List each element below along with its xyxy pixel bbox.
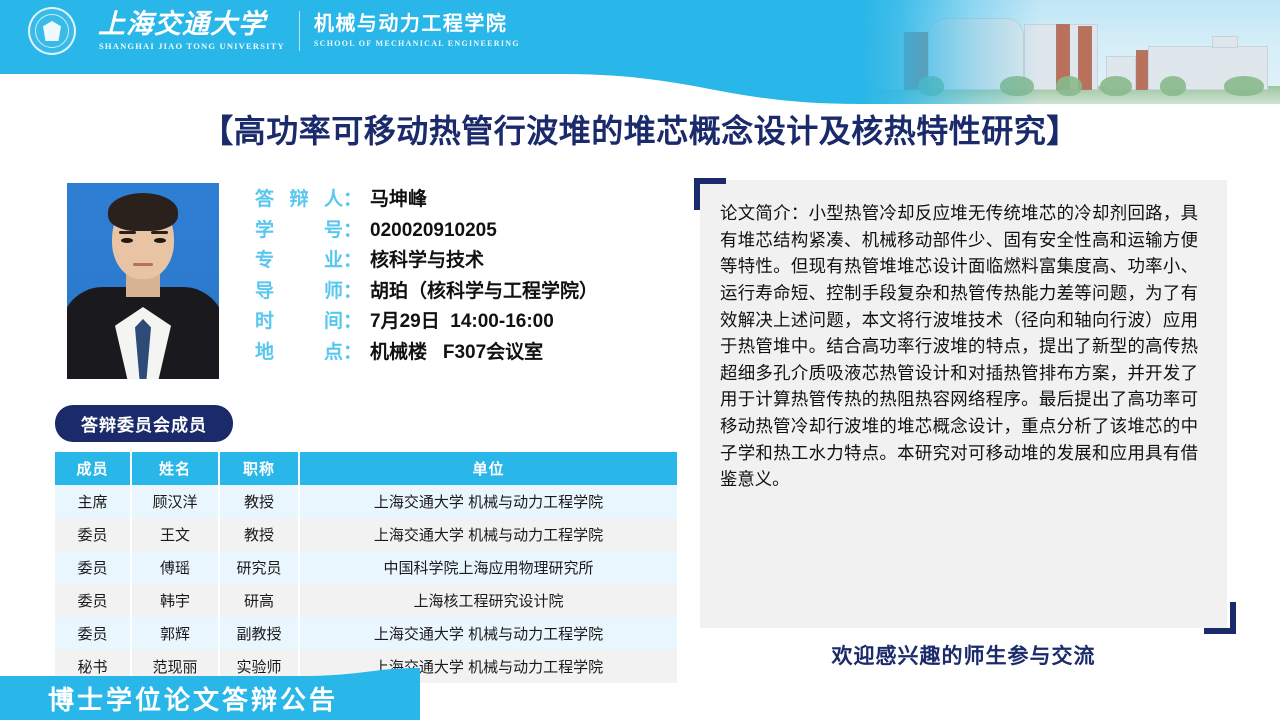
cell-title: 研高 (219, 584, 299, 617)
column-header-name: 姓名 (131, 452, 219, 485)
portrait-eyebrow (119, 231, 136, 234)
cell-title: 副教授 (219, 617, 299, 650)
thesis-title: 【高功率可移动热管行波堆的堆芯概念设计及核热特性研究】 (0, 112, 1280, 150)
table-row: 委员 傅瑶 研究员 中国科学院上海应用物理研究所 (55, 551, 677, 584)
cell-name: 郭辉 (131, 617, 219, 650)
info-row-presenter: 答 辩 人 ： 马坤峰 (255, 184, 675, 215)
info-value-presenter: 马坤峰 (370, 184, 427, 211)
cell-affiliation: 中国科学院上海应用物理研究所 (299, 551, 677, 584)
info-row-time: 时 间 ： 7月29日 14:00-16:00 (255, 306, 675, 337)
portrait-mouth (133, 263, 153, 266)
info-value-advisor: 胡珀（核科学与工程学院） (370, 276, 598, 303)
portrait-eye (154, 238, 166, 243)
brand-divider (299, 11, 300, 51)
cell-title: 教授 (219, 485, 299, 518)
info-value-time: 7月29日 14:00-16:00 (370, 306, 554, 333)
cell-title: 研究员 (219, 551, 299, 584)
info-colon: ： (343, 184, 362, 211)
info-row-advisor: 导 师 ： 胡珀（核科学与工程学院） (255, 276, 675, 307)
cell-role: 委员 (55, 551, 131, 584)
info-label-presenter: 答 辩 人 (255, 184, 343, 211)
info-row-major: 专 业 ： 核科学与技术 (255, 245, 675, 276)
welcome-note: 欢迎感兴趣的师生参与交流 (700, 640, 1227, 670)
info-colon: ： (343, 215, 362, 242)
portrait-hair (108, 193, 178, 231)
cell-name: 韩宇 (131, 584, 219, 617)
school-name-en: SCHOOL OF MECHANICAL ENGINEERING (314, 39, 520, 48)
header-curve-divider (0, 54, 1280, 104)
cell-name: 王文 (131, 518, 219, 551)
abstract-text: 论文简介：小型热管冷却反应堆无传统堆芯的冷却剂回路，具有堆芯结构紧凑、机械移动部… (720, 200, 1198, 493)
cell-role: 委员 (55, 518, 131, 551)
info-label-student-id: 学 号 (255, 215, 343, 242)
portrait-eyebrow (151, 231, 168, 234)
table-row: 委员 郭辉 副教授 上海交通大学 机械与动力工程学院 (55, 617, 677, 650)
info-label-time: 时 间 (255, 306, 343, 333)
cell-affiliation: 上海核工程研究设计院 (299, 584, 677, 617)
info-row-student-id: 学 号 ： 020020910205 (255, 215, 675, 246)
table-row: 主席 顾汉洋 教授 上海交通大学 机械与动力工程学院 (55, 485, 677, 518)
campus-rooftop (1212, 36, 1238, 48)
info-value-major: 核科学与技术 (370, 245, 484, 272)
cell-title: 教授 (219, 518, 299, 551)
committee-table: 成员 姓名 职称 单位 主席 顾汉洋 教授 上海交通大学 机械与动力工程学院 委… (55, 452, 677, 683)
column-header-role: 成员 (55, 452, 131, 485)
abstract-corner-bracket-top-left (694, 178, 726, 210)
info-label-major: 专 业 (255, 245, 343, 272)
info-label-advisor: 导 师 (255, 276, 343, 303)
university-name-en: SHANGHAI JIAO TONG UNIVERSITY (99, 41, 285, 51)
table-row: 委员 韩宇 研高 上海核工程研究设计院 (55, 584, 677, 617)
sjtu-seal-icon (28, 7, 76, 55)
info-row-location: 地 点 ： 机械楼 F307会议室 (255, 337, 675, 368)
brand-lockup: 上海交通大学 SHANGHAI JIAO TONG UNIVERSITY 机械与… (28, 8, 520, 54)
info-colon: ： (343, 276, 362, 303)
cell-role: 委员 (55, 584, 131, 617)
column-header-title: 职称 (219, 452, 299, 485)
page-header: 上海交通大学 SHANGHAI JIAO TONG UNIVERSITY 机械与… (0, 0, 1280, 104)
footer-title: 博士学位论文答辩公告 (48, 680, 338, 717)
table-row: 委员 王文 教授 上海交通大学 机械与动力工程学院 (55, 518, 677, 551)
defense-announcement-poster: 上海交通大学 SHANGHAI JIAO TONG UNIVERSITY 机械与… (0, 0, 1280, 720)
cell-role: 委员 (55, 617, 131, 650)
cell-affiliation: 上海交通大学 机械与动力工程学院 (299, 617, 677, 650)
column-header-affiliation: 单位 (299, 452, 677, 485)
info-label-location: 地 点 (255, 337, 343, 364)
school-name-cn: 机械与动力工程学院 (314, 14, 520, 34)
info-value-student-id: 020020910205 (370, 220, 497, 242)
cell-role: 主席 (55, 485, 131, 518)
defense-info-list: 答 辩 人 ： 马坤峰 学 号 ： 020020910205 专 业 ： 核科学… (255, 184, 675, 367)
cell-name: 傅瑶 (131, 551, 219, 584)
cell-affiliation: 上海交通大学 机械与动力工程学院 (299, 485, 677, 518)
info-colon: ： (343, 306, 362, 333)
info-colon: ： (343, 337, 362, 364)
info-value-location: 机械楼 F307会议室 (370, 337, 543, 364)
university-name-cn: 上海交通大学 (98, 11, 285, 38)
cell-name: 顾汉洋 (131, 485, 219, 518)
table-header-row: 成员 姓名 职称 单位 (55, 452, 677, 485)
portrait-eye (121, 238, 133, 243)
committee-section-badge: 答辩委员会成员 (55, 405, 233, 442)
cell-affiliation: 上海交通大学 机械与动力工程学院 (299, 518, 677, 551)
page-footer: 博士学位论文答辩公告 (0, 668, 1280, 720)
info-colon: ： (343, 245, 362, 272)
abstract-corner-bracket-bottom-right (1204, 602, 1236, 634)
candidate-portrait-photo (67, 183, 219, 379)
